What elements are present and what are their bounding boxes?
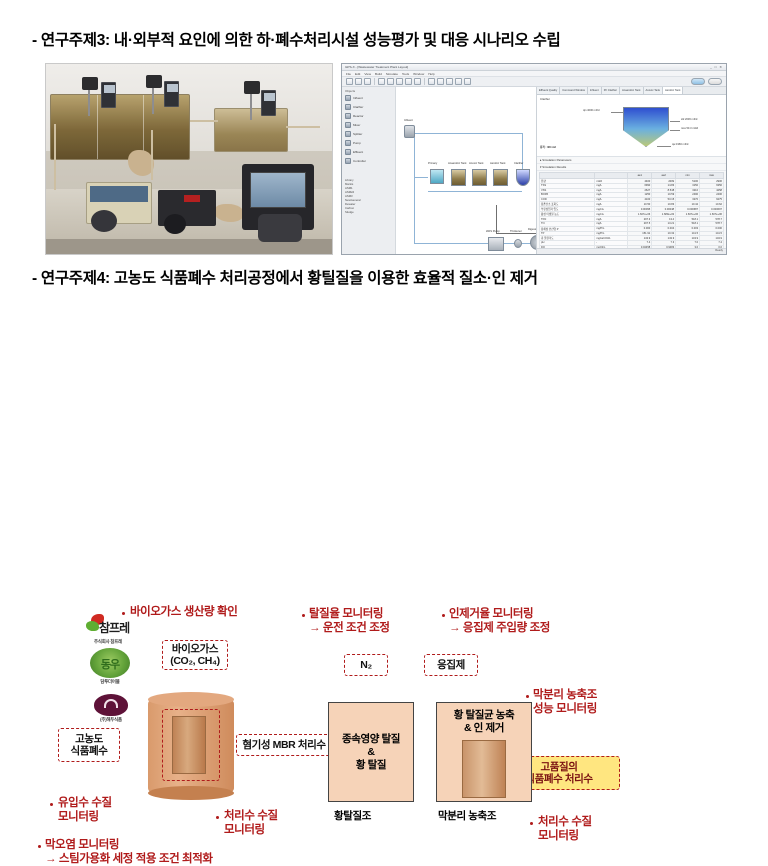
- menu-file[interactable]: File: [346, 72, 351, 76]
- clarifier-diagram-panel: Clarifier qin 4000 m3/d sl2 2036 m3/d ms…: [537, 95, 726, 157]
- photo-tube: [151, 130, 153, 180]
- note-bullet: [122, 612, 125, 615]
- palette-label: Pump: [353, 141, 361, 145]
- sim-process-canvas[interactable]: Influent Primary Anaerobic Tank Anoxic T…: [396, 87, 536, 254]
- label-sulfur-tank: 황탈질조: [334, 808, 371, 823]
- palette-label: Influent: [353, 96, 363, 100]
- unit-primary[interactable]: [430, 169, 444, 184]
- reactor-icon: [345, 113, 351, 119]
- unit-label-influent: Influent: [404, 119, 413, 122]
- clarifier-volume-value: 용적 : 364 m3: [540, 145, 556, 149]
- palette-item-clarifier[interactable]: Clarifier: [345, 104, 393, 110]
- return-wire: [414, 133, 415, 243]
- accordion-simulation-parameters[interactable]: ▸ Simulation Parameters: [537, 157, 726, 164]
- toolbar-separator: [424, 78, 425, 85]
- media-row: GPS-X - [Wastewater Treatment Plant Layo…: [45, 63, 727, 255]
- tab-aerobic-tank[interactable]: Aerobic Tank: [663, 87, 684, 94]
- unit-was-pump[interactable]: [488, 237, 504, 251]
- menu-build[interactable]: Build: [375, 72, 382, 76]
- membrane-prism: [462, 740, 506, 798]
- menu-help[interactable]: Help: [428, 72, 434, 76]
- controller-icon: [345, 158, 351, 164]
- photo-tube: [286, 126, 320, 128]
- unit-aerobic-tank[interactable]: [493, 169, 508, 186]
- run-simulation-button[interactable]: [691, 78, 705, 85]
- sim-status-bar: Ready: [537, 248, 726, 254]
- note-biogas-production: 바이오가스 생산량 확인: [130, 605, 237, 619]
- run-icon[interactable]: [446, 78, 453, 85]
- menu-edit[interactable]: Edit: [355, 72, 360, 76]
- palette-label: Splitter: [353, 132, 362, 136]
- note-mbr-effluent-quality: 처리수 수질 모니터링: [224, 809, 278, 837]
- unit-clarifier[interactable]: [516, 169, 530, 186]
- dongwoo-mark-icon: [90, 648, 130, 678]
- note-membrane-performance: 막분리 농축조 성능 모니터링: [533, 688, 597, 716]
- box-nitrogen-gas: N₂: [344, 654, 388, 676]
- palette-label: Reactor: [353, 114, 364, 118]
- simulation-results-table: ae1 ae2 min max 유량m3/d4400200951002906TS…: [539, 172, 724, 250]
- palette-item-reactor[interactable]: Reactor: [345, 113, 393, 119]
- unit-label-anoxic: Anoxic Tank: [469, 162, 483, 165]
- sim-window-title: GPS-X - [Wastewater Treatment Plant Layo…: [345, 65, 408, 69]
- photo-controller-pump: [242, 164, 314, 230]
- logo-caption: (주)해두식품: [94, 717, 128, 723]
- clarifier-caption: Clarifier: [540, 97, 723, 101]
- note-phosphorus-removal: 인제거율 모니터링 → 응집제 주입량 조정: [449, 607, 550, 635]
- research-topic-3-title: - 연구주제3: 내·외부적 요인에 의한 하·폐수처리시설 성능평가 및 대응…: [32, 28, 561, 50]
- copy-icon[interactable]: [387, 78, 394, 85]
- unit-label-aerobic: Aerobic Tank: [490, 162, 506, 165]
- photo-stirrer-motor: [82, 77, 98, 90]
- recycle-wire: [428, 191, 522, 192]
- box-biogas: 바이오가스 (CO₂, CH₄): [162, 640, 228, 670]
- annotation-leader: [670, 121, 680, 122]
- palette-item-pump[interactable]: Pump: [345, 140, 393, 146]
- accordion-label: Simulation Results: [542, 165, 566, 169]
- cut-icon[interactable]: [378, 78, 385, 85]
- unit-anaerobic-tank[interactable]: [451, 169, 466, 186]
- redo-icon[interactable]: [414, 78, 421, 85]
- palette-item-influent[interactable]: Influent: [345, 95, 393, 101]
- palette-item-splitter[interactable]: Splitter: [345, 131, 393, 137]
- tab-influent[interactable]: Influent: [588, 87, 602, 94]
- clarifier-icon: [345, 104, 351, 110]
- palette-item-controller[interactable]: Controller: [345, 158, 393, 164]
- unit-anoxic-tank[interactable]: [472, 169, 487, 186]
- clarifier-solids-annotation: mss 50.3 m3/d: [681, 127, 698, 130]
- lab-pilot-plant-photo: [45, 63, 333, 255]
- paste-icon[interactable]: [396, 78, 403, 85]
- clarifier-inflow-annotation: qin 4000 m3/d: [583, 109, 599, 112]
- save-icon[interactable]: [364, 78, 371, 85]
- palette-library-list[interactable]: Library Mantis ASM1 ASM2d ASM3 NewGenera…: [345, 178, 393, 214]
- palette-label: Controller: [353, 159, 366, 163]
- window-controls[interactable]: _ □ ✕: [710, 65, 723, 69]
- anaerobic-mbr-digester: [148, 692, 234, 800]
- clarifier-underflow-annotation: qw 1966 m3/d: [672, 143, 688, 146]
- sim-body: Objects Influent Clarifier Reactor Mixer: [342, 87, 726, 254]
- logo-caption: 담투더어블: [90, 679, 130, 685]
- sim-toolbar[interactable]: [342, 77, 726, 87]
- tank-sulfur-denitrification: 종속영양 탈질 & 황 탈질: [328, 702, 414, 802]
- menu-tools[interactable]: Tools: [402, 72, 409, 76]
- annotation-leader: [611, 112, 625, 113]
- splitter-icon: [345, 131, 351, 137]
- membrane-module: [172, 716, 206, 774]
- menu-window[interactable]: Window: [413, 72, 424, 76]
- palette-item-mixer[interactable]: Mixer: [345, 122, 393, 128]
- reset-simulation-button[interactable]: [708, 78, 722, 85]
- photo-stirrer-motor: [244, 81, 260, 94]
- note-denitrification-rate: 탈질율 모니터링 → 운전 조건 조정: [309, 607, 390, 635]
- box-mbr-effluent: 혐기성 MBR 처리수: [236, 734, 332, 756]
- photo-stirrer-controller: [261, 90, 276, 116]
- zoom-out-icon[interactable]: [437, 78, 444, 85]
- annotation-leader: [657, 146, 671, 147]
- logo-caption: 주식회사 참프레: [86, 639, 130, 645]
- chamfre-mark-icon: 참프레: [86, 614, 130, 638]
- annotation-leader: [670, 130, 680, 131]
- note-final-effluent-quality: 처리수 수질 모니터링: [538, 815, 592, 843]
- tab-effluent-quality[interactable]: Effluent Quality: [537, 87, 560, 94]
- influent-icon: [345, 95, 351, 101]
- accordion-label: Simulation Parameters: [542, 158, 571, 162]
- pump-icon: [345, 140, 351, 146]
- note-bullet: [216, 816, 219, 819]
- tab-anaerobic-tank[interactable]: Anaerobic Tank: [620, 87, 643, 94]
- effluent-icon: [345, 149, 351, 155]
- unit-label-clarifier: Clarifier: [514, 162, 523, 165]
- note-bullet: [302, 614, 305, 617]
- tab-command-window[interactable]: Command Window: [560, 87, 588, 94]
- open-icon[interactable]: [355, 78, 362, 85]
- logo-haedu-food: (주)해두식품: [94, 690, 128, 723]
- note-bullet: [530, 822, 533, 825]
- undo-icon[interactable]: [405, 78, 412, 85]
- note-bullet: [442, 614, 445, 617]
- new-icon[interactable]: [346, 78, 353, 85]
- stop-icon[interactable]: [455, 78, 462, 85]
- clarifier-3d-graphic: [623, 107, 669, 147]
- palette-label: Clarifier: [353, 105, 363, 109]
- table-body: 유량m3/d4400200951002906TSSmg/L699014.8331…: [540, 179, 724, 250]
- box-influent-wastewater: 고농도 식품폐수: [58, 728, 120, 762]
- note-bullet: [50, 803, 53, 806]
- logo-dongwoo: 담투더어블: [90, 648, 130, 685]
- photo-dosing-pump: [158, 190, 216, 226]
- sim-title-bar: GPS-X - [Wastewater Treatment Plant Layo…: [342, 64, 726, 71]
- note-influent-quality: 유입수 수질 모니터링: [58, 796, 112, 824]
- research-topic-4-title: - 연구주제4: 고농도 식품폐수 처리공정에서 황틸질을 이용한 효율적 질소…: [32, 266, 538, 288]
- label-membrane-tank: 막분리 농축조: [438, 808, 496, 823]
- sim-object-palette[interactable]: Objects Influent Clarifier Reactor Mixer: [342, 87, 396, 254]
- note-bullet: [526, 695, 529, 698]
- palette-header: Objects: [345, 89, 393, 93]
- photo-stirrer-controller: [101, 82, 116, 108]
- tab-anoxic-tank[interactable]: Anoxic Tank: [644, 87, 663, 94]
- results-table-wrapper[interactable]: ae1 ae2 min max 유량m3/d4400200951002906TS…: [537, 171, 726, 251]
- photo-tube: [190, 120, 218, 122]
- sim-tab-bar[interactable]: Effluent Quality Command Window Influent…: [537, 87, 726, 95]
- logo-chamfre: 참프레 주식회사 참프레: [86, 614, 130, 645]
- photo-stirrer-motor: [146, 75, 162, 88]
- clarifier-overflow-annotation: sl2 2036 m3/d: [681, 118, 697, 121]
- mixer-icon: [345, 122, 351, 128]
- photo-peristaltic-pump: [86, 182, 152, 224]
- unit-influent[interactable]: [404, 125, 415, 138]
- note-bullet: [38, 845, 41, 848]
- unit-label-anaerobic: Anaerobic Tank: [448, 162, 466, 165]
- process-flow-diagram: 참프레 주식회사 참프레 담투더어블 (주)해두식품 바이오가스 (CO₂, C…: [0, 296, 768, 576]
- palette-label: Mixer: [353, 123, 360, 127]
- note-membrane-fouling: 막오염 모니터링 → 스팀가용화 세정 적용 조건 최적화: [45, 838, 213, 866]
- zoom-in-icon[interactable]: [428, 78, 435, 85]
- flow-wire: [414, 177, 428, 178]
- box-coagulant: 응집제: [424, 654, 478, 676]
- sludge-wire: [496, 205, 497, 233]
- unit-label-thickener: Thickener: [510, 230, 522, 233]
- simulation-software-window[interactable]: GPS-X - [Wastewater Treatment Plant Layo…: [341, 63, 727, 255]
- palette-label: Effluent: [353, 150, 363, 154]
- photo-stirrer-controller: [164, 81, 179, 107]
- chart-icon[interactable]: [464, 78, 471, 85]
- haedu-mark-icon: [94, 690, 128, 716]
- unit-label-primary: Primary: [428, 162, 437, 165]
- tab-pri-clarifier[interactable]: Pri Clarifier: [602, 87, 620, 94]
- flow-wire: [414, 133, 522, 134]
- unit-label-was-pump: WAS Pump: [486, 230, 500, 233]
- unit-thickener[interactable]: [514, 239, 522, 248]
- menu-simulate[interactable]: Simulate: [386, 72, 398, 76]
- sim-results-panel[interactable]: Effluent Quality Command Window Influent…: [536, 87, 726, 254]
- palette-item-effluent[interactable]: Effluent: [345, 149, 393, 155]
- photo-tube: [54, 124, 56, 190]
- accordion-simulation-results[interactable]: ▾ Simulation Results: [537, 164, 726, 171]
- diagram-arrow-layer: [0, 296, 768, 576]
- toolbar-separator: [374, 78, 375, 85]
- menu-view[interactable]: View: [364, 72, 371, 76]
